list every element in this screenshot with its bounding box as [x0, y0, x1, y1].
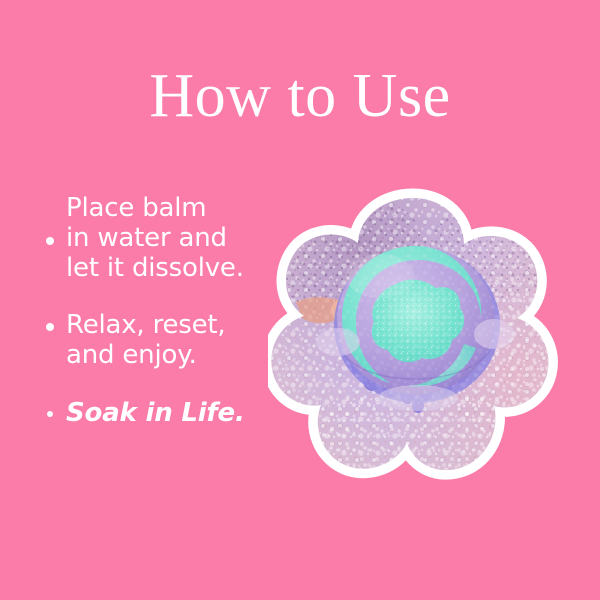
poster-canvas: How to Use — [0, 0, 600, 600]
bullet-dot-icon — [34, 398, 66, 417]
bullet-dot-icon — [34, 193, 66, 245]
flower-photo — [268, 184, 558, 492]
page-title: How to Use — [0, 62, 600, 130]
flower-photo-svg — [268, 184, 558, 492]
step-text: Relax, reset, and enjoy. — [66, 310, 264, 370]
list-item-step-1: Place balm in water and let it dissolve. — [34, 193, 264, 283]
list-item-step-2: Relax, reset, and enjoy. — [34, 310, 264, 370]
steps-list: Place balm in water and let it dissolve.… — [34, 193, 264, 428]
step-text: Place balm in water and let it dissolve. — [66, 193, 264, 283]
step-text: Soak in Life. — [66, 398, 264, 428]
bullet-dot-icon — [34, 310, 66, 331]
list-item-step-3: Soak in Life. — [34, 398, 264, 428]
